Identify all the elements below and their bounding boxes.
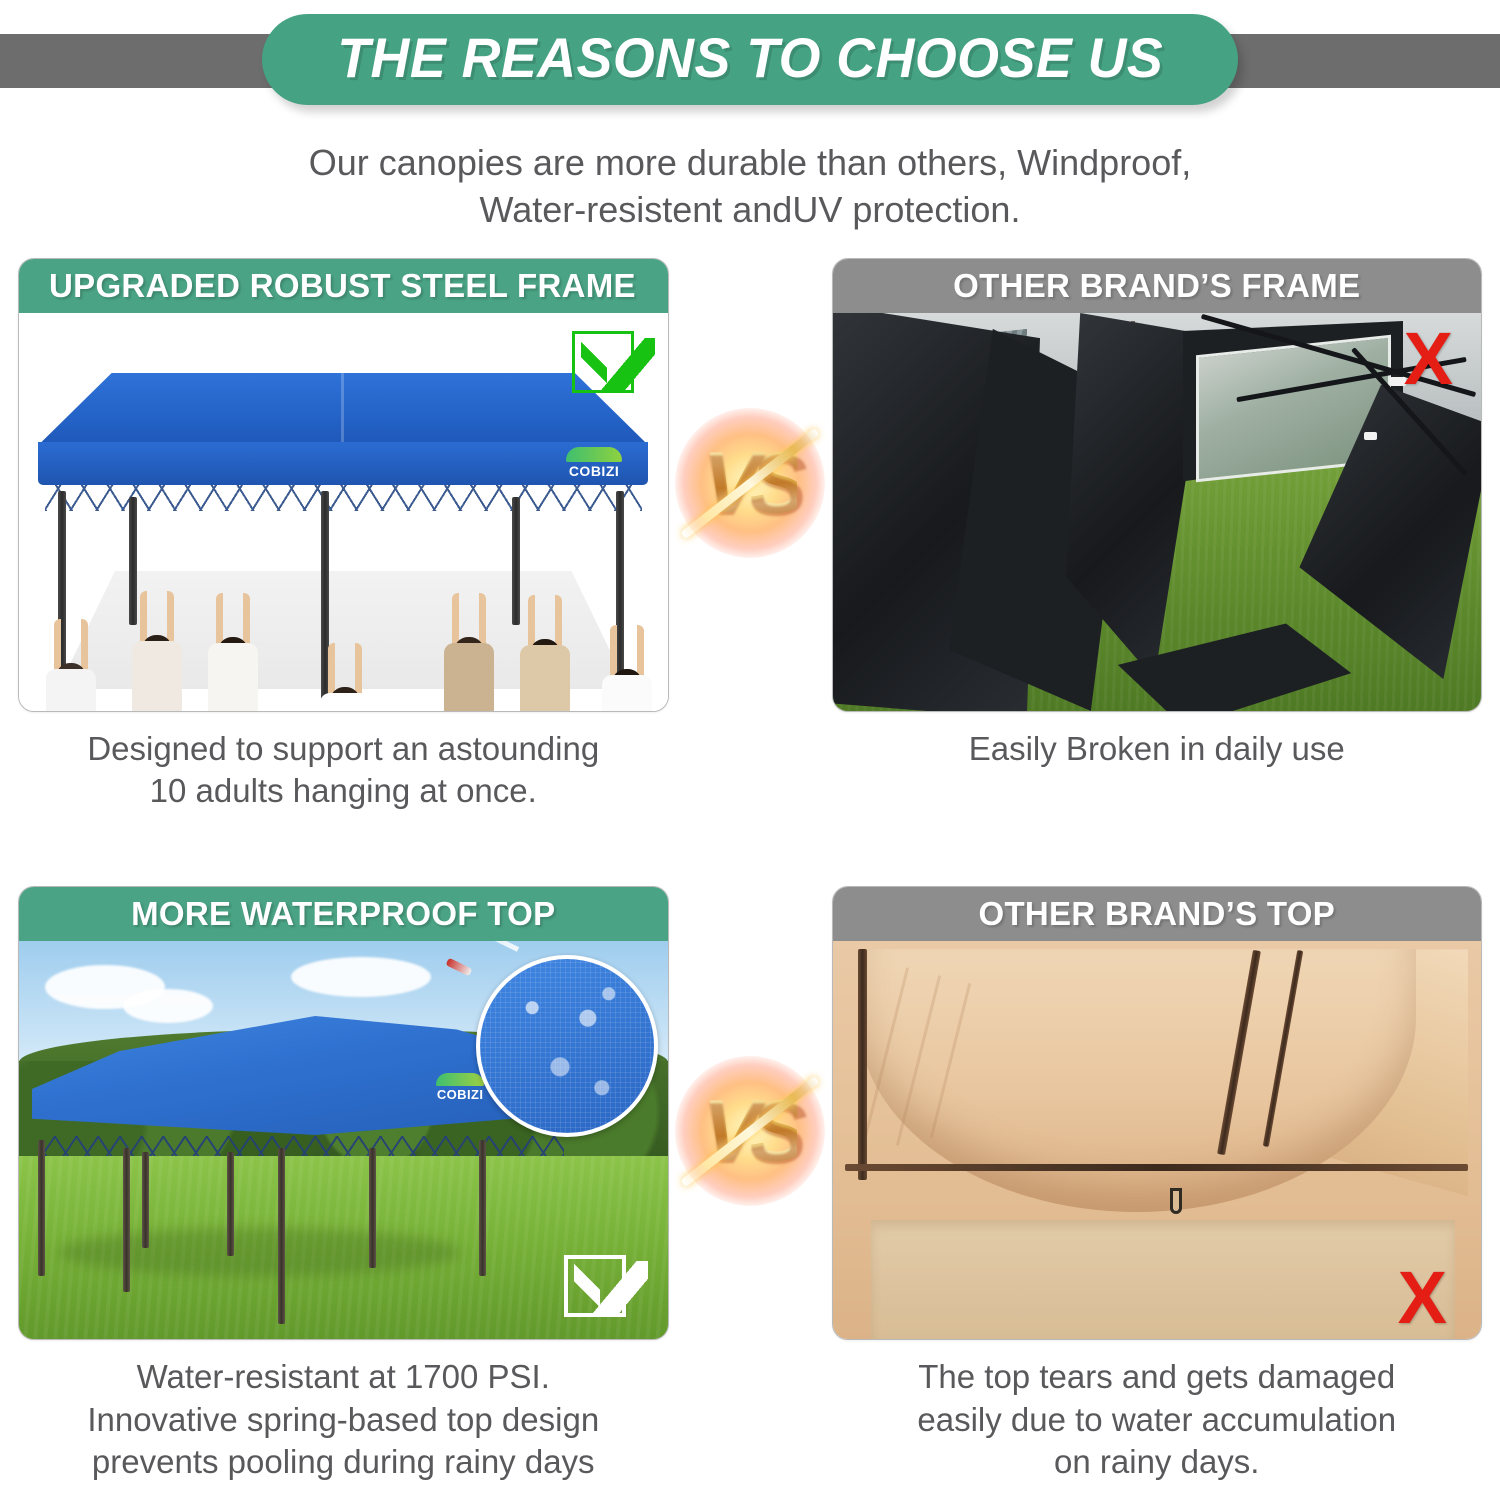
frame-clip bbox=[1364, 432, 1377, 440]
caption-line-1: The top tears and gets damaged bbox=[842, 1356, 1473, 1398]
caption-line-3: on rainy days. bbox=[842, 1441, 1473, 1483]
cobizi-arc-icon bbox=[566, 447, 622, 462]
panel-header: OTHER BRAND’S FRAME bbox=[833, 259, 1482, 313]
panel-caption: Designed to support an astounding 10 adu… bbox=[18, 728, 669, 812]
page-subtitle: Our canopies are more durable than other… bbox=[0, 140, 1500, 234]
header-title-pill: THE REASONS TO CHOOSE US bbox=[262, 14, 1238, 105]
cobizi-logo: COBIZI bbox=[566, 447, 622, 478]
canopy-leg bbox=[227, 1152, 234, 1255]
canopy-pole bbox=[845, 1164, 1468, 1171]
caption-line-1: Easily Broken in daily use bbox=[842, 728, 1473, 770]
panel-other-brands-top: OTHER BRAND’S TOP bbox=[832, 886, 1483, 1483]
cobizi-wordmark: COBIZI bbox=[436, 1088, 484, 1101]
cobizi-logo: COBIZI bbox=[436, 1073, 484, 1101]
blue-canopy-graphic: COBIZI bbox=[38, 373, 648, 485]
cobizi-arc-icon bbox=[436, 1073, 484, 1086]
side-wall bbox=[871, 1220, 1455, 1339]
canopy-leg bbox=[278, 1148, 285, 1323]
page-header: THE REASONS TO CHOOSE US bbox=[0, 0, 1500, 118]
canopy-leg bbox=[142, 1152, 149, 1248]
canopy-leg bbox=[512, 497, 520, 625]
panel-more-waterproof-top: MORE WATERPROOF TOP bbox=[18, 886, 669, 1483]
canopy-pole bbox=[858, 949, 867, 1180]
canopy-leg bbox=[38, 1140, 45, 1275]
panel-image-studio-canopy-hangers: COBIZI bbox=[19, 313, 668, 711]
canopy-valance bbox=[38, 442, 648, 485]
page-title: THE REASONS TO CHOOSE US bbox=[337, 25, 1163, 90]
subtitle-line-2: Water-resistent andUV protection. bbox=[150, 187, 1350, 234]
panel-card: OTHER BRAND’S TOP bbox=[832, 886, 1483, 1340]
caption-line-1: Designed to support an astounding bbox=[28, 728, 659, 770]
panel-caption: Easily Broken in daily use bbox=[832, 728, 1483, 770]
panel-card: UPGRADED ROBUST STEEL FRAME COBIZI bbox=[18, 258, 669, 712]
comparison-grid: VS UPGRADED ROBUST STEEL FRAME bbox=[18, 258, 1482, 1509]
green-check-icon bbox=[572, 331, 634, 393]
panel-upgraded-steel-frame: UPGRADED ROBUST STEEL FRAME COBIZI bbox=[18, 258, 669, 812]
sagging-canopy-fabric bbox=[858, 949, 1416, 1212]
caption-line-2: easily due to water accumulation bbox=[842, 1399, 1473, 1441]
panel-card: OTHER BRAND’S FRAME bbox=[832, 258, 1483, 712]
panel-image-blue-canopy-lawn: COBIZI bbox=[19, 941, 668, 1339]
red-x-icon: X bbox=[1404, 329, 1453, 388]
water-beading-inset bbox=[476, 955, 658, 1137]
vs-badge-top: VS bbox=[675, 1056, 825, 1206]
cobizi-wordmark: COBIZI bbox=[566, 464, 622, 478]
caption-line-3: prevents pooling during rainy days bbox=[28, 1441, 659, 1483]
red-x-icon: X bbox=[1398, 1268, 1447, 1327]
panel-image-beige-sagging-top: X bbox=[833, 941, 1482, 1339]
canopy-leg bbox=[123, 1148, 130, 1291]
panel-card: MORE WATERPROOF TOP bbox=[18, 886, 669, 1340]
canopy-roof bbox=[38, 373, 648, 445]
canopy-leg bbox=[129, 497, 137, 625]
comparison-row-top: VS MORE WATERPROOF TOP bbox=[18, 886, 1482, 1483]
panel-caption: Water-resistant at 1700 PSI. Innovative … bbox=[18, 1356, 669, 1483]
canopy-leg bbox=[369, 1148, 376, 1267]
panel-header-label: UPGRADED ROBUST STEEL FRAME bbox=[49, 267, 636, 305]
subtitle-line-1: Our canopies are more durable than other… bbox=[150, 140, 1350, 187]
vs-badge-frame: VS bbox=[675, 408, 825, 558]
panel-other-brands-frame: OTHER BRAND’S FRAME bbox=[832, 258, 1483, 812]
panel-header: OTHER BRAND’S TOP bbox=[833, 887, 1482, 941]
panel-header: MORE WATERPROOF TOP bbox=[19, 887, 668, 941]
water-drip-point bbox=[1170, 1188, 1182, 1214]
caption-line-2: 10 adults hanging at once. bbox=[28, 770, 659, 812]
panel-caption: The top tears and gets damaged easily du… bbox=[832, 1356, 1483, 1483]
caption-line-2: Innovative spring-based top design bbox=[28, 1399, 659, 1441]
panel-image-broken-black-canopy: X bbox=[833, 313, 1482, 711]
caption-line-1: Water-resistant at 1700 PSI. bbox=[28, 1356, 659, 1398]
comparison-row-frame: VS UPGRADED ROBUST STEEL FRAME bbox=[18, 258, 1482, 812]
white-check-icon bbox=[564, 1255, 626, 1317]
canopy-shadow bbox=[58, 1228, 460, 1276]
panel-header-label: OTHER BRAND’S TOP bbox=[978, 895, 1335, 933]
panel-header: UPGRADED ROBUST STEEL FRAME bbox=[19, 259, 668, 313]
panel-header-label: OTHER BRAND’S FRAME bbox=[953, 267, 1360, 305]
panel-header-label: MORE WATERPROOF TOP bbox=[131, 895, 555, 933]
canopy-leg bbox=[479, 1140, 486, 1275]
